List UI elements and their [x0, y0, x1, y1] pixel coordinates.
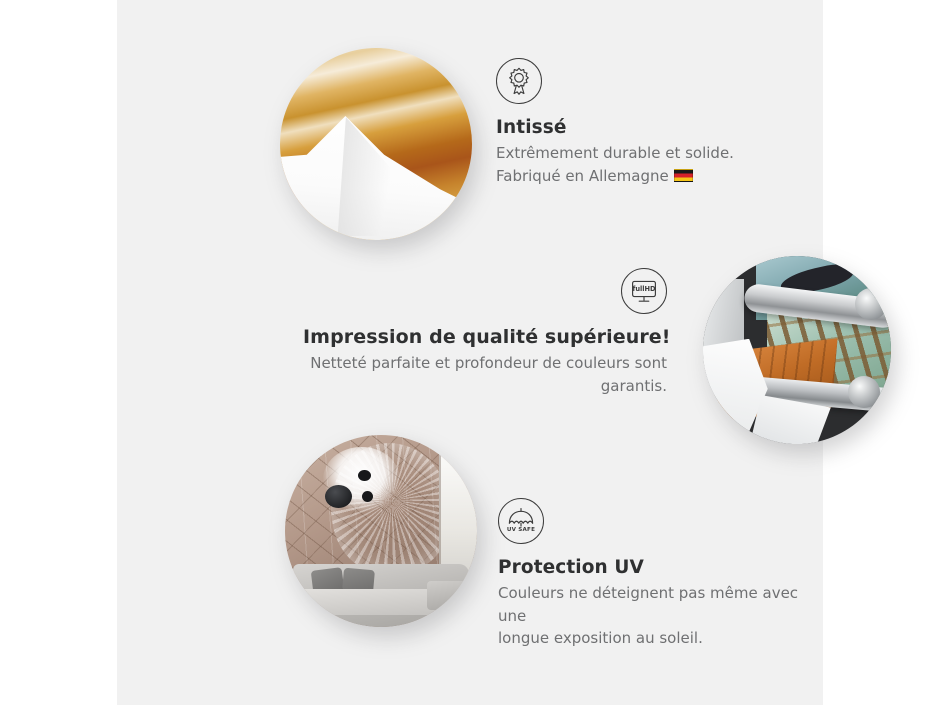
feature-description: Extrêmement durable et solide. Fabriqué …: [496, 142, 734, 187]
feature-description-line-2: Fabriqué en Allemagne: [496, 165, 734, 188]
feature-description-line-1: Netteté parfaite et profondeur de couleu…: [303, 352, 667, 375]
feature-uv-protection: UV SAFE Protection UV Couleurs ne déteig…: [498, 498, 823, 650]
ottoman: [427, 581, 469, 610]
feature-description: Couleurs ne déteignent pas même avec une…: [498, 582, 823, 650]
feature-description-line-1: Couleurs ne déteignent pas même avec une: [498, 582, 823, 627]
peel-shadow: [338, 117, 407, 236]
feature-title: Protection UV: [498, 557, 823, 578]
wallpaper-roll-photo: [280, 48, 472, 240]
product-feature-banner: Intissé Extrêmement durable et solide. F…: [0, 0, 940, 705]
mural-dark-sphere: [325, 485, 352, 508]
feature-description-line-2: garantis.: [303, 375, 667, 398]
feature-print-quality: fullHD Impression de qualité supérieure!…: [303, 268, 667, 397]
roller-cap-lower: [848, 376, 880, 408]
feature-title: Impression de qualité supérieure!: [303, 326, 667, 348]
feature-description: Netteté parfaite et profondeur de couleu…: [303, 352, 667, 397]
fullhd-label: fullHD: [632, 285, 656, 293]
fullhd-monitor-icon: fullHD: [621, 268, 667, 314]
feature-description-line-1: Extrêmement durable et solide.: [496, 142, 734, 165]
feature-title: Intissé: [496, 117, 734, 138]
germany-flag-icon: [674, 169, 693, 182]
roller-cap-upper: [855, 288, 887, 320]
uv-safe-umbrella-icon: UV SAFE: [498, 498, 544, 544]
award-rosette-icon: [496, 58, 542, 104]
feature-description-line-2: longue exposition au soleil.: [498, 627, 823, 650]
living-room-mural-photo: [285, 435, 477, 627]
feature-description-line-2-text: Fabriqué en Allemagne: [496, 167, 669, 185]
printing-machine-photo: [703, 256, 891, 444]
content-panel: Intissé Extrêmement durable et solide. F…: [117, 0, 823, 705]
uv-safe-label: UV SAFE: [507, 527, 535, 533]
feature-intisse: Intissé Extrêmement durable et solide. F…: [496, 58, 734, 187]
sofa-seat: [300, 589, 446, 616]
